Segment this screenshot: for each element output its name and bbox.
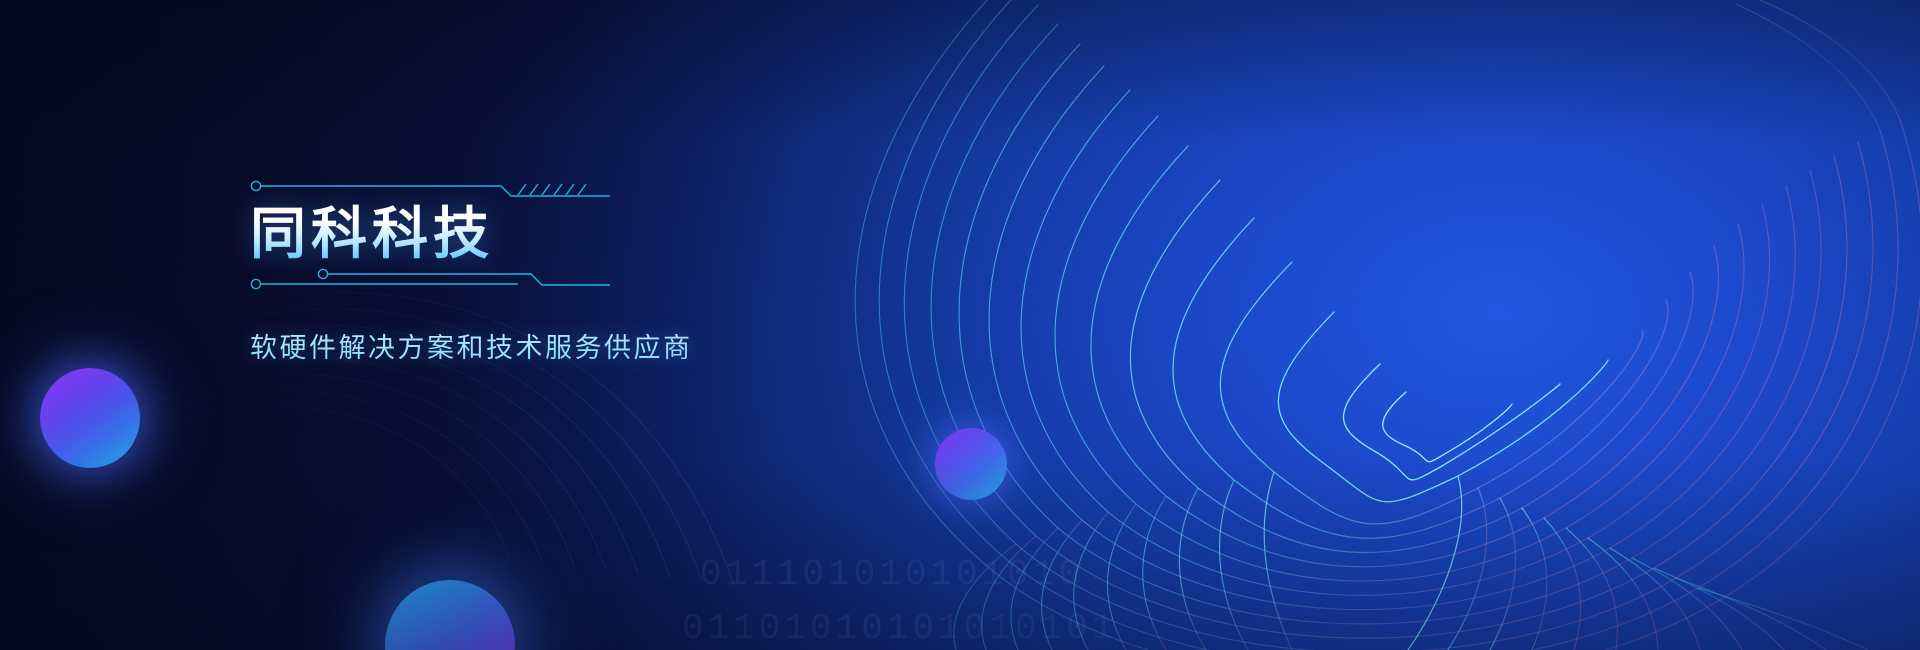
circuit-line-top: [250, 178, 610, 200]
page-title: 同科科技: [250, 202, 950, 268]
circuit-node-bottom-left: [251, 279, 260, 288]
circuit-node-top-left: [251, 181, 260, 190]
circuit-node-bottom-mid: [318, 269, 327, 278]
hero-text-block: 同科科技 软硬件解决方案和技术服务供应商: [250, 178, 950, 366]
brand-title-row: 同科科技: [250, 202, 950, 268]
circuit-line-bottom: [250, 268, 610, 294]
page-subtitle: 软硬件解决方案和技术服务供应商: [250, 294, 950, 366]
hero-banner: 011101010101010 01101010101010101: [0, 0, 1920, 650]
